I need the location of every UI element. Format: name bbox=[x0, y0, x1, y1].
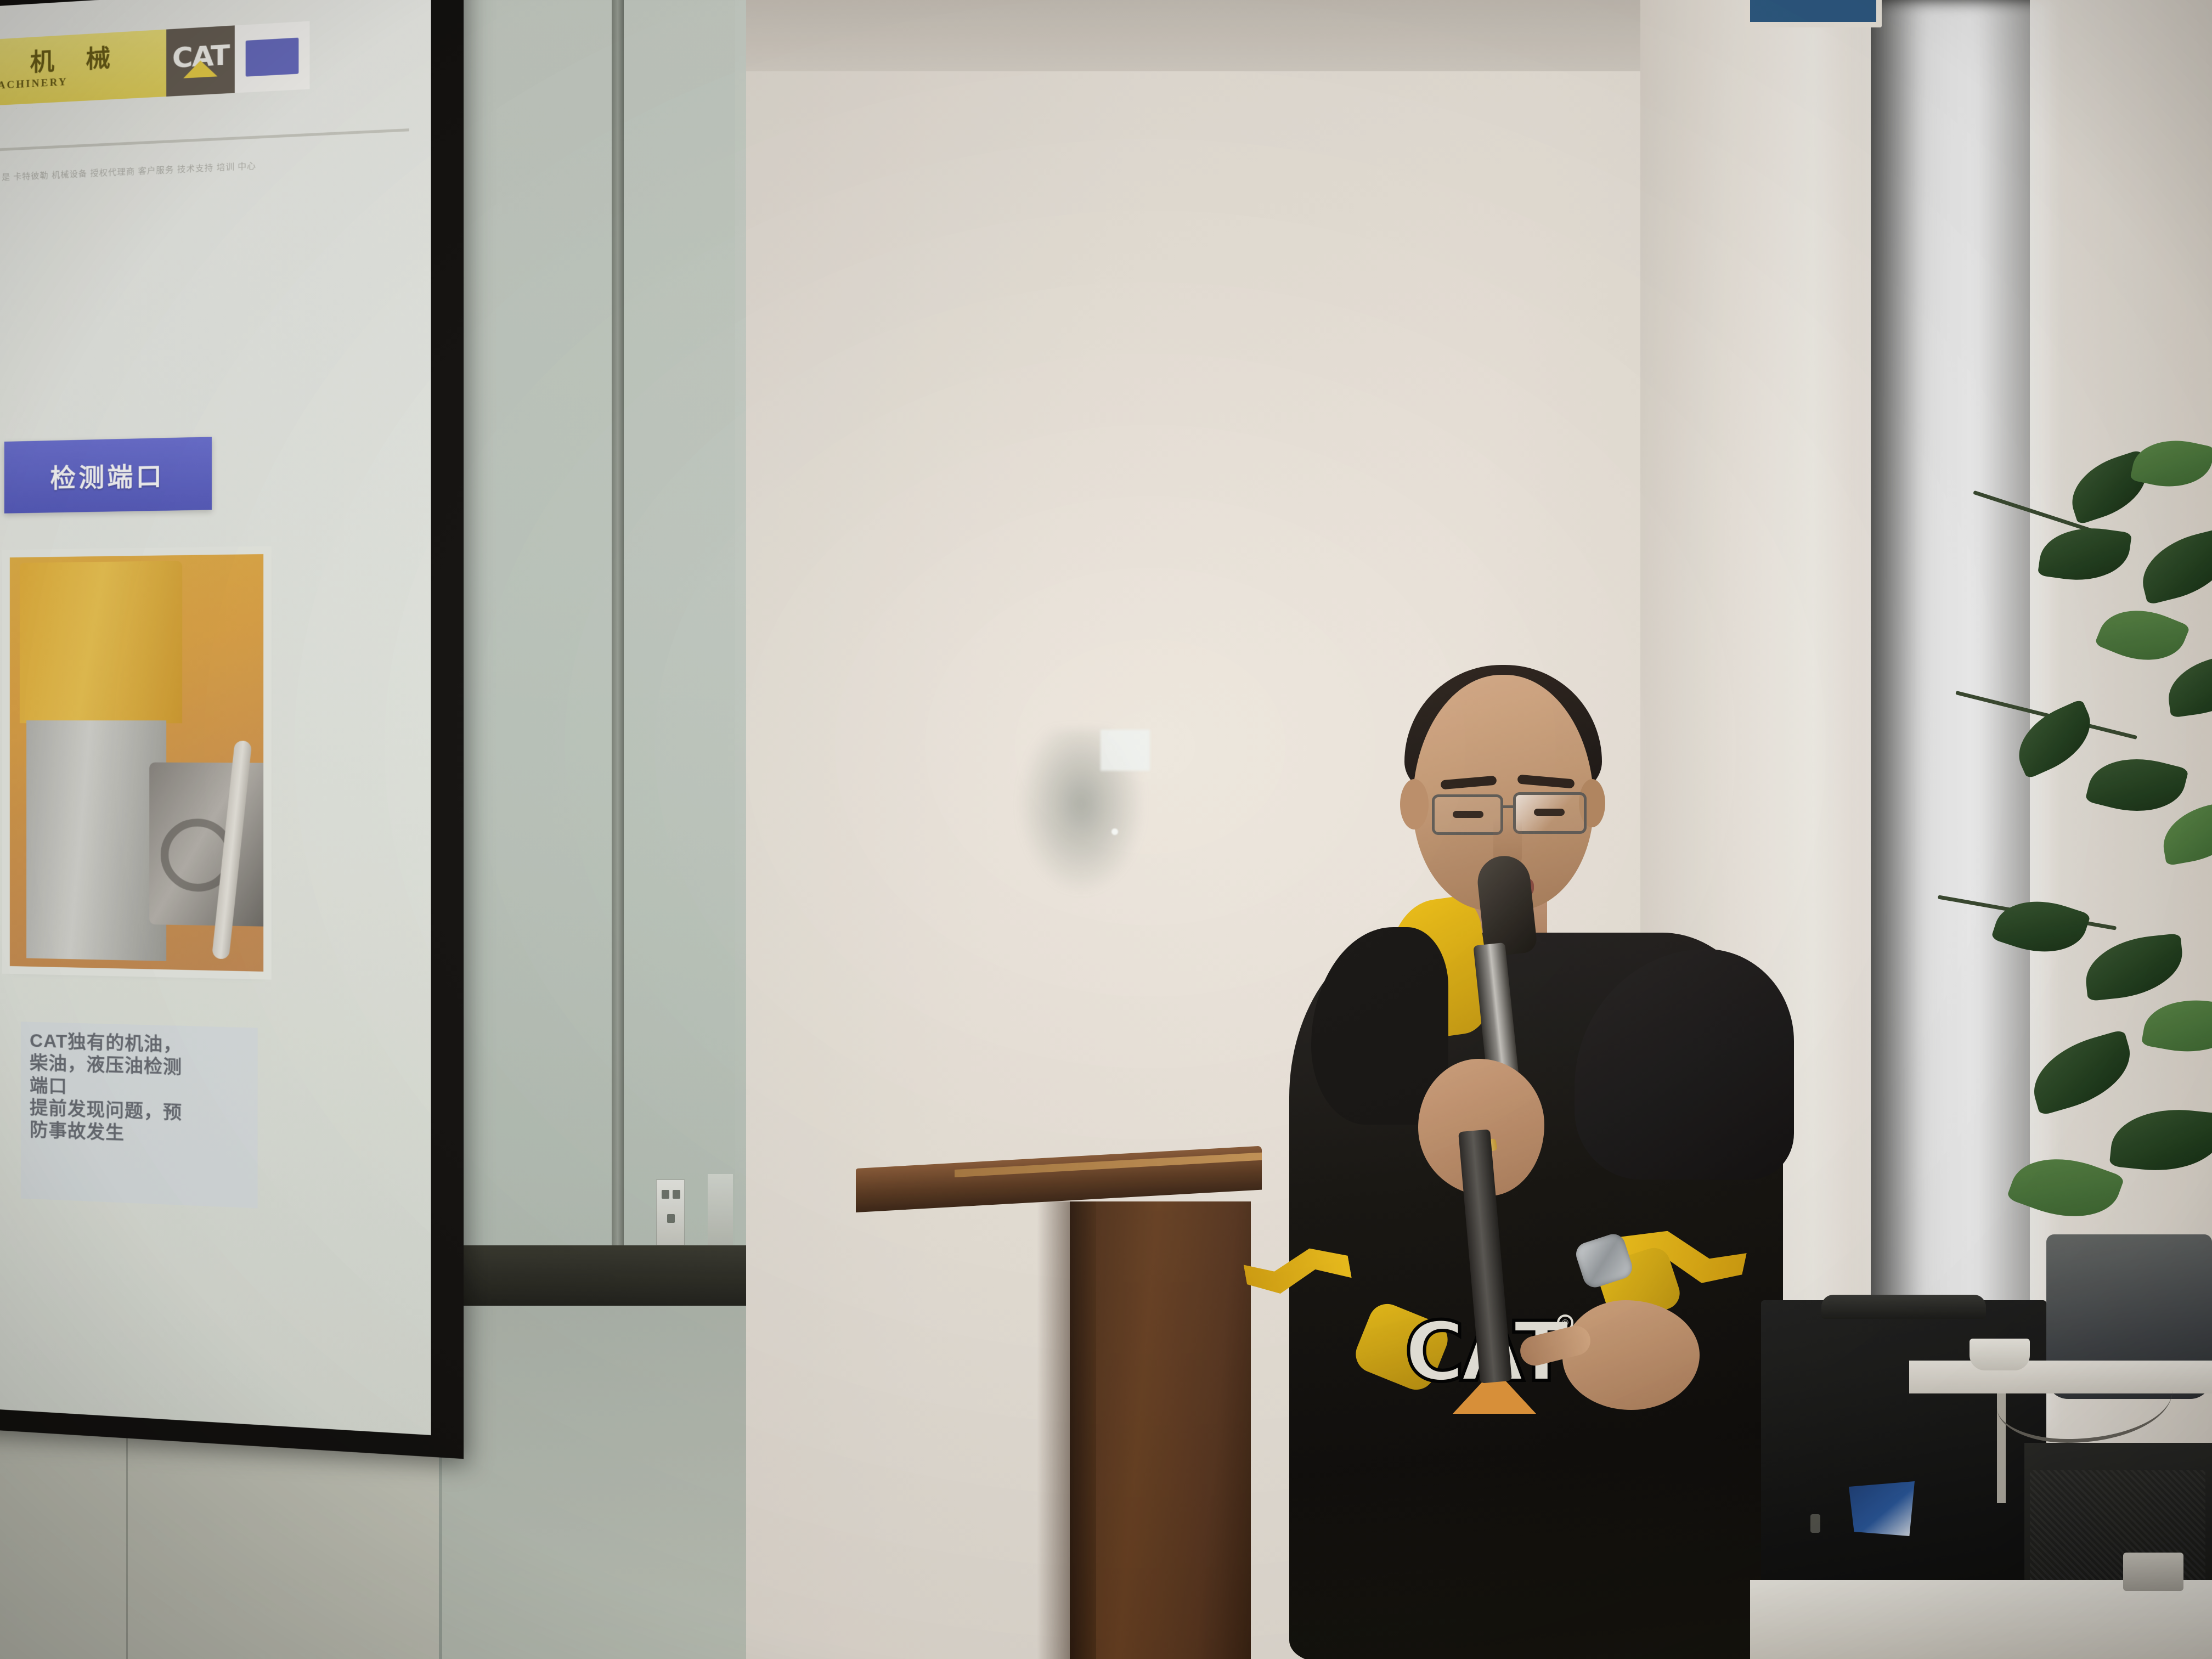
glass-baseboard bbox=[442, 1245, 746, 1306]
glass-mullion bbox=[612, 0, 624, 1273]
plant-leaf bbox=[2158, 800, 2212, 866]
cat-logo: CAT bbox=[166, 25, 235, 97]
slide-header-rule bbox=[0, 128, 409, 155]
plant-leaf bbox=[2164, 652, 2212, 718]
wall-recess bbox=[735, 0, 1739, 71]
speaker-knob[interactable] bbox=[1810, 1514, 1820, 1533]
slide-surface: 瑞 行 机 械 RUI XING MACHINERY CAT 瑞行机械设备有限公… bbox=[0, 0, 431, 1435]
mic-stand-base bbox=[2123, 1553, 2183, 1591]
plant-leaf bbox=[2006, 1142, 2125, 1234]
slide-subtext: 瑞行机械设备有限公司 是 卡特彼勒 机械设备 授权代理商 客户服务 技术支持 培… bbox=[0, 153, 409, 187]
slide-header: 瑞 行 机 械 RUI XING MACHINERY CAT bbox=[0, 15, 409, 110]
hand-right bbox=[1562, 1300, 1700, 1410]
photo-scene: 瑞 行 机 械 RUI XING MACHINERY CAT 瑞行机械设备有限公… bbox=[0, 0, 2212, 1659]
plant-leaf bbox=[2082, 933, 2186, 1001]
plant-leaf bbox=[2038, 521, 2132, 587]
speaker-badge-label bbox=[1849, 1481, 1915, 1536]
slide-caption-main: CAT独有的机油， 柴油，液压油检测 端口 提前发现问题，预 防事故发生 bbox=[21, 1022, 258, 1208]
plant-leaf bbox=[2134, 527, 2212, 605]
wall-outlet[interactable] bbox=[656, 1180, 685, 1245]
projection-screen: 瑞 行 机 械 RUI XING MACHINERY CAT 瑞行机械设备有限公… bbox=[0, 0, 464, 1459]
plant-leaf bbox=[2109, 1103, 2212, 1177]
wall-picture-frame bbox=[1745, 0, 1882, 27]
ear-left bbox=[1400, 779, 1429, 830]
eyeglass-bridge bbox=[1502, 805, 1515, 808]
cat-triangle-icon bbox=[183, 60, 217, 78]
part-metal-body bbox=[26, 720, 166, 961]
front-table bbox=[1750, 1580, 2212, 1659]
slide-photo-sampling-port bbox=[10, 554, 263, 972]
paper-behind-glass bbox=[1101, 730, 1150, 771]
presenter: CAT ® bbox=[1223, 675, 1838, 1659]
eye-right bbox=[1534, 809, 1565, 816]
plant-leaf bbox=[2085, 747, 2189, 823]
wall-switch[interactable] bbox=[708, 1174, 733, 1245]
eye-left bbox=[1453, 811, 1483, 818]
part-yellow-cap bbox=[20, 561, 182, 723]
badge-blue-swatch bbox=[246, 38, 299, 77]
slide-brand-banner: 瑞 行 机 械 RUI XING MACHINERY bbox=[0, 30, 166, 110]
plant-leaf bbox=[2141, 991, 2212, 1061]
slide-section-label-port: 检测端口 bbox=[4, 437, 212, 513]
speaker-handle[interactable] bbox=[1821, 1295, 1986, 1319]
potted-plant bbox=[1904, 428, 2212, 1262]
plant-leaf bbox=[1991, 888, 2091, 966]
podium-edge bbox=[1070, 1201, 1096, 1659]
plant-leaf bbox=[2094, 595, 2190, 675]
slide-badge-blue bbox=[235, 21, 310, 93]
plant-leaf bbox=[2024, 1029, 2141, 1116]
slide-section-label-port-text: 检测端口 bbox=[50, 456, 165, 495]
glass-highlight bbox=[1111, 828, 1118, 835]
glass-lower-panel bbox=[442, 1306, 746, 1659]
